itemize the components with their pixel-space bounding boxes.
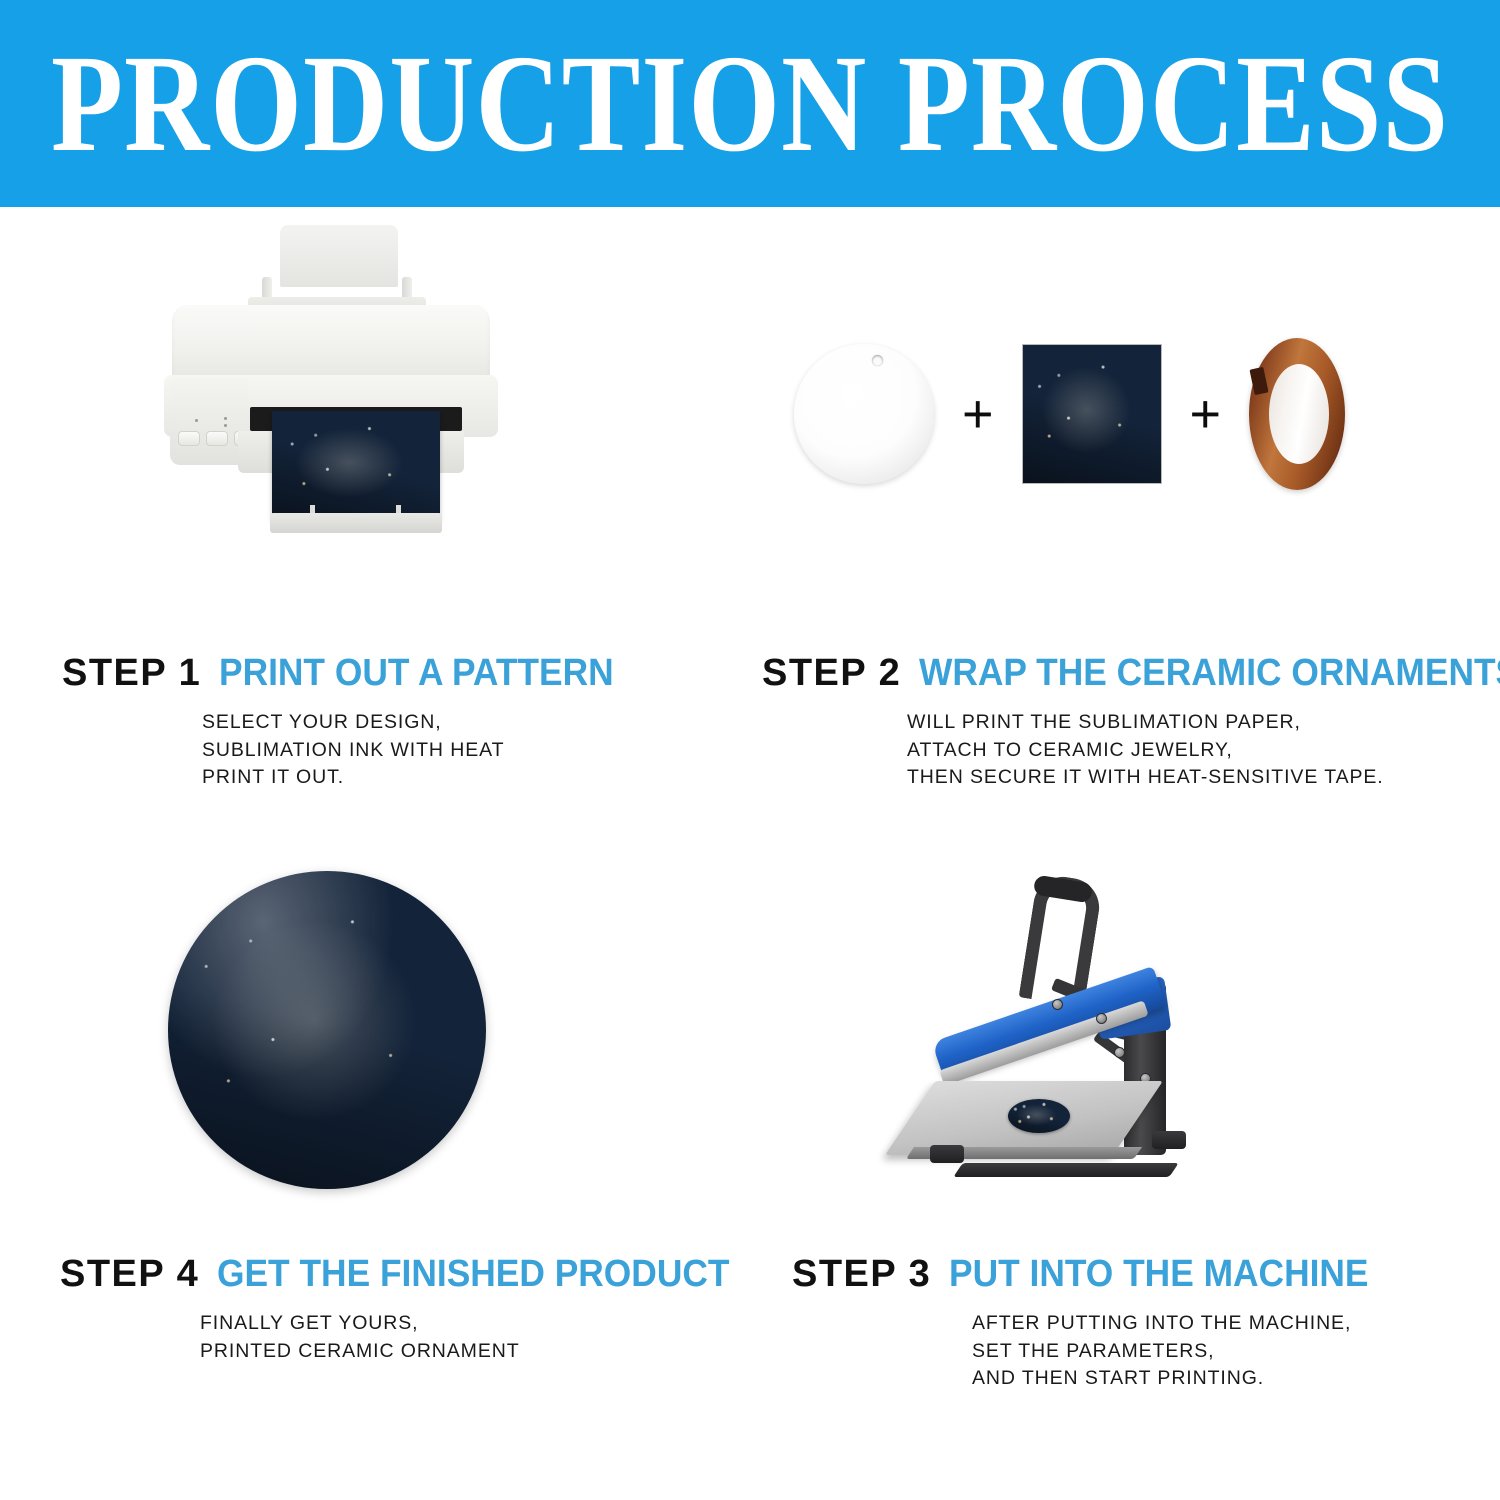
heat-press-graphic xyxy=(900,863,1280,1213)
steps-grid: STEP 1 PRINT OUT A PATTERN SELECT YOUR D… xyxy=(0,207,1500,1500)
materials-illustration: + + xyxy=(750,207,1500,647)
santa-artwork xyxy=(272,411,440,521)
step-3-body-line-3: AND THEN START PRINTING. xyxy=(972,1365,1500,1393)
step-1-label: STEP 1 xyxy=(62,652,201,695)
step-1-body-line-2: SUBLIMATION INK WITH HEAT xyxy=(202,737,750,765)
ornament-hanging-hole-icon xyxy=(872,355,883,366)
step-1-caption: STEP 1 PRINT OUT A PATTERN SELECT YOUR D… xyxy=(0,652,750,792)
heat-press-foot-right xyxy=(1152,1131,1186,1149)
santa-artwork xyxy=(1023,345,1161,483)
heat-press-illustration xyxy=(750,853,1500,1293)
step-4-body-line-1: FINALLY GET YOURS, xyxy=(200,1310,750,1338)
finished-santa-ornament xyxy=(168,871,486,1189)
step-4-caption: STEP 4 GET THE FINISHED PRODUCT FINALLY … xyxy=(0,1253,750,1365)
step-1-body-line-3: PRINT IT OUT. xyxy=(202,764,750,792)
step-3-body-line-1: AFTER PUTTING INTO THE MACHINE, xyxy=(972,1310,1500,1338)
step-1-body: SELECT YOUR DESIGN, SUBLIMATION INK WITH… xyxy=(62,709,750,792)
step-1-title: PRINT OUT A PATTERN xyxy=(219,652,614,695)
step-card-4: STEP 4 GET THE FINISHED PRODUCT FINALLY … xyxy=(0,853,750,1499)
step-1-headline: STEP 1 PRINT OUT A PATTERN xyxy=(62,652,750,695)
finished-ornament-illustration xyxy=(0,853,750,1293)
step-2-body-line-1: WILL PRINT THE SUBLIMATION PAPER, xyxy=(907,709,1500,737)
step-2-title: WRAP THE CERAMIC ORNAMENTS xyxy=(919,652,1500,695)
ornament-on-platen xyxy=(1008,1099,1070,1133)
heat-resistant-tape-roll xyxy=(1249,338,1345,490)
printer-base-plate xyxy=(270,513,442,533)
step-4-body-line-2: PRINTED CERAMIC ORNAMENT xyxy=(200,1338,750,1366)
step-2-body-line-3: THEN SECURE IT WITH HEAT-SENSITIVE TAPE. xyxy=(907,764,1500,792)
step-3-title: PUT INTO THE MACHINE xyxy=(949,1253,1369,1296)
step-3-caption: STEP 3 PUT INTO THE MACHINE AFTER PUTTIN… xyxy=(750,1253,1500,1393)
step-2-body: WILL PRINT THE SUBLIMATION PAPER, ATTACH… xyxy=(762,709,1500,792)
step-4-headline: STEP 4 GET THE FINISHED PRODUCT xyxy=(60,1253,750,1296)
inkjet-printer-graphic xyxy=(150,225,510,555)
printer-illustration xyxy=(0,207,750,647)
page-title: PRODUCTION PROCESS xyxy=(51,34,1449,173)
step-2-label: STEP 2 xyxy=(762,652,901,695)
printer-button-power[interactable] xyxy=(178,431,200,446)
step-3-label: STEP 3 xyxy=(792,1253,931,1296)
heat-press-pivot-1 xyxy=(1052,999,1063,1010)
step-2-headline: STEP 2 WRAP THE CERAMIC ORNAMENTS xyxy=(762,652,1500,695)
plus-icon-1: + xyxy=(962,387,994,441)
step-4-body: FINALLY GET YOURS, PRINTED CERAMIC ORNAM… xyxy=(60,1310,750,1365)
finished-ornament-graphic xyxy=(168,871,488,1201)
printer-button-feed[interactable] xyxy=(206,431,228,446)
heat-press-pivot-2 xyxy=(1096,1013,1107,1024)
step-3-headline: STEP 3 PUT INTO THE MACHINE xyxy=(792,1253,1500,1296)
header-banner: PRODUCTION PROCESS xyxy=(0,0,1500,207)
blank-ceramic-ornament xyxy=(794,344,934,484)
santa-artwork xyxy=(168,871,486,1189)
step-4-label: STEP 4 xyxy=(60,1253,199,1296)
printer-paper-tray xyxy=(280,225,398,287)
step-card-1: STEP 1 PRINT OUT A PATTERN SELECT YOUR D… xyxy=(0,207,750,853)
step-4-title: GET THE FINISHED PRODUCT xyxy=(217,1253,729,1296)
tape-core xyxy=(1269,364,1329,464)
santa-artwork xyxy=(1008,1099,1070,1133)
plus-icon-2: + xyxy=(1190,387,1222,441)
materials-row: + + xyxy=(794,319,1454,509)
step-2-body-line-2: ATTACH TO CERAMIC JEWELRY, xyxy=(907,737,1500,765)
step-1-body-line-1: SELECT YOUR DESIGN, xyxy=(202,709,750,737)
heat-press-pivot-3 xyxy=(1114,1047,1125,1058)
printed-santa-sheet xyxy=(272,411,440,521)
step-3-body-line-2: SET THE PARAMETERS, xyxy=(972,1338,1500,1366)
printer-led-1 xyxy=(195,419,198,422)
step-card-2: + + STEP 2 WRAP THE CERAMIC ORNAMENTS WI… xyxy=(750,207,1500,853)
step-card-3: STEP 3 PUT INTO THE MACHINE AFTER PUTTIN… xyxy=(750,853,1500,1499)
printer-led-3 xyxy=(224,424,227,427)
step-2-caption: STEP 2 WRAP THE CERAMIC ORNAMENTS WILL P… xyxy=(750,652,1500,792)
santa-sublimation-print xyxy=(1022,344,1162,484)
heat-press-foot-left xyxy=(930,1145,964,1163)
step-3-body: AFTER PUTTING INTO THE MACHINE, SET THE … xyxy=(792,1310,1500,1393)
printer-control-panel xyxy=(170,377,248,465)
heat-press-base-rail xyxy=(953,1163,1178,1177)
printer-led-2 xyxy=(224,417,227,420)
